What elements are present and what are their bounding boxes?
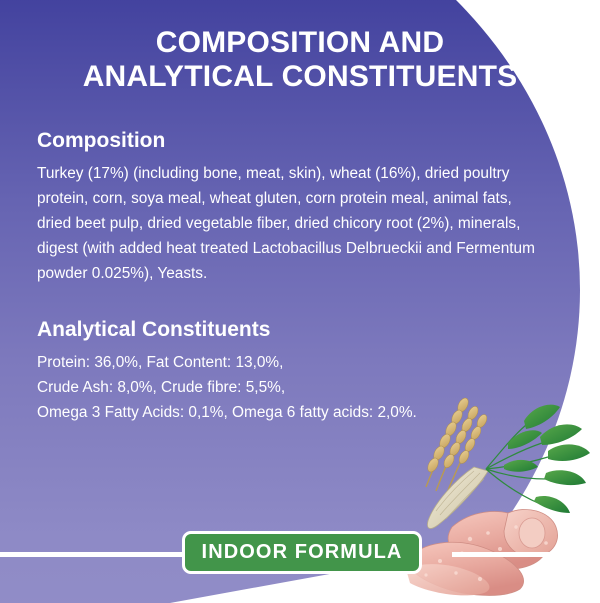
page-title-line-2: ANALYTICAL CONSTITUENTS <box>30 60 570 94</box>
indoor-formula-badge[interactable]: INDOOR FORMULA <box>182 531 422 574</box>
page-title: COMPOSITION AND ANALYTICAL CONSTITUENTS <box>0 26 600 93</box>
analytical-constituents-list: Protein: 36,0%, Fat Content: 13,0%, Crud… <box>37 351 549 426</box>
analytical-constituents-heading: Analytical Constituents <box>37 317 549 342</box>
analytical-constituents-line: Crude Ash: 8,0%, Crude fibre: 5,5%, <box>37 376 549 401</box>
content-area: Composition Turkey (17%) (including bone… <box>37 128 549 426</box>
section-divider-space <box>37 287 549 317</box>
analytical-constituents-line: Protein: 36,0%, Fat Content: 13,0%, <box>37 351 549 376</box>
composition-text: Turkey (17%) (including bone, meat, skin… <box>37 162 549 287</box>
divider-rule-right <box>452 552 572 557</box>
page-title-line-1: COMPOSITION AND <box>30 26 570 60</box>
composition-heading: Composition <box>37 128 549 153</box>
composition-panel: COMPOSITION AND ANALYTICAL CONSTITUENTS … <box>0 0 600 603</box>
divider-rule-left <box>0 552 196 557</box>
analytical-constituents-line: Omega 3 Fatty Acids: 0,1%, Omega 6 fatty… <box>37 401 549 426</box>
indoor-formula-badge-label: INDOOR FORMULA <box>202 541 403 564</box>
